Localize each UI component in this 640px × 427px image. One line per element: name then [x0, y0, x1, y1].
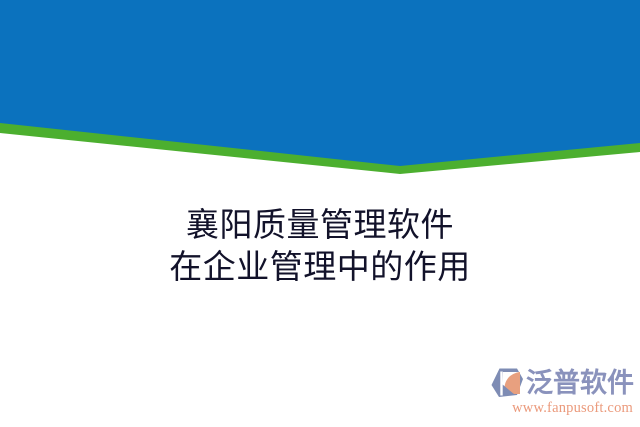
title-line-1: 襄阳质量管理软件	[0, 205, 640, 247]
brand-logo-row: 泛普软件	[490, 367, 634, 399]
brand-name-text: 泛普软件	[526, 370, 634, 397]
brand-url-text: www.fanpusoft.com	[512, 400, 633, 417]
banner-blue-chevron	[0, 0, 640, 166]
page-title: 襄阳质量管理软件 在企业管理中的作用	[0, 205, 640, 289]
title-line-2: 在企业管理中的作用	[0, 247, 640, 289]
fanpu-logo-icon	[490, 367, 524, 399]
banner-green-edge	[0, 0, 640, 174]
header-chevron-banner	[0, 0, 640, 185]
slide-canvas: 襄阳质量管理软件 在企业管理中的作用 泛普软件	[0, 0, 640, 427]
brand-logo: 泛普软件 www.fanpusoft.com	[490, 367, 634, 417]
